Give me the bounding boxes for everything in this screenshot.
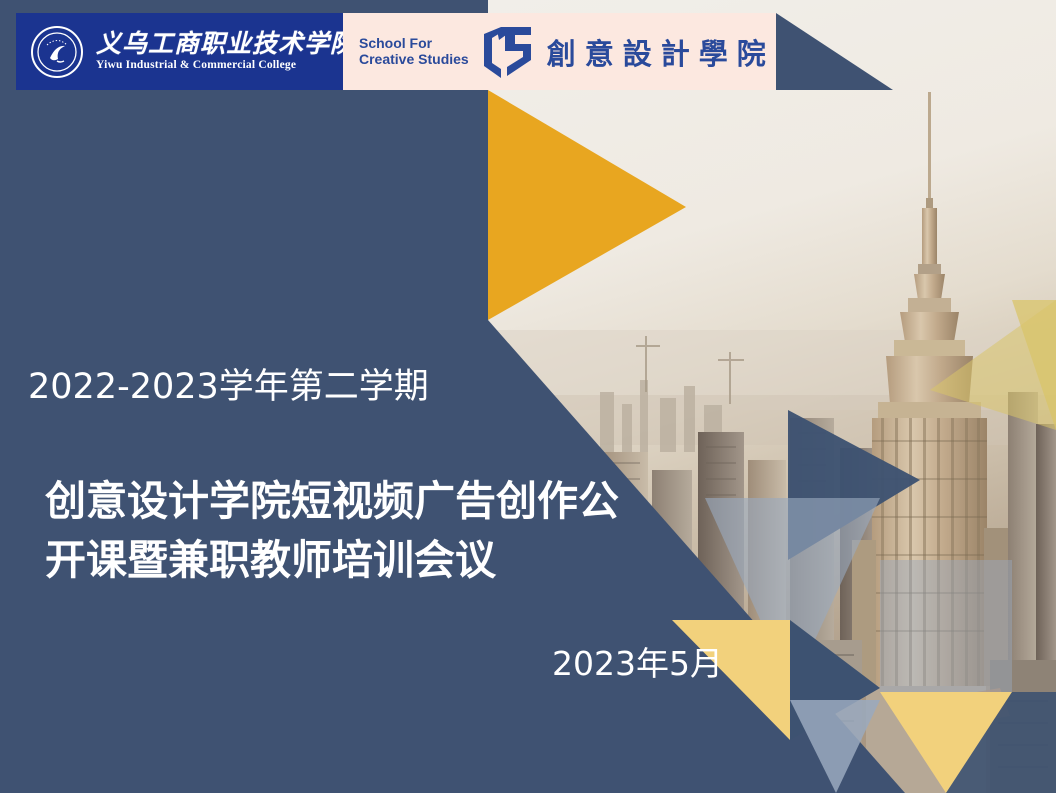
title-slide: 义乌工商职业技术学院 Yiwu Industrial & Commercial …: [0, 0, 1056, 793]
slide-title: 创意设计学院短视频广告创作公 开课暨兼职教师培训会议: [45, 472, 685, 591]
yiwu-college-name-cn: 义乌工商职业技术学院: [96, 32, 356, 57]
slide-title-line-2: 开课暨兼职教师培训会议: [45, 531, 685, 590]
creative-studies-name-en: School For Creative Studies: [359, 36, 469, 67]
university-seal-icon: [30, 25, 84, 79]
yiwu-college-logo: 义乌工商职业技术学院 Yiwu Industrial & Commercial …: [16, 13, 343, 90]
slide-date: 2023年5月: [552, 637, 723, 685]
slide-title-line-1: 创意设计学院短视频广告创作公: [45, 472, 685, 531]
slide-subtitle: 2022-2023学年第二学期: [28, 358, 429, 409]
creative-studies-logo: School For Creative Studies 創意設計學院: [343, 13, 776, 90]
creative-studies-name-cn: 創意設計學院: [547, 31, 775, 73]
yiwu-college-name-en: Yiwu Industrial & Commercial College: [96, 60, 356, 72]
creative-studies-shield-icon: [479, 24, 537, 80]
creative-studies-en-line2: Creative Studies: [359, 51, 469, 67]
logo-bar: 义乌工商职业技术学院 Yiwu Industrial & Commercial …: [16, 13, 776, 90]
creative-studies-en-line1: School For: [359, 35, 432, 51]
